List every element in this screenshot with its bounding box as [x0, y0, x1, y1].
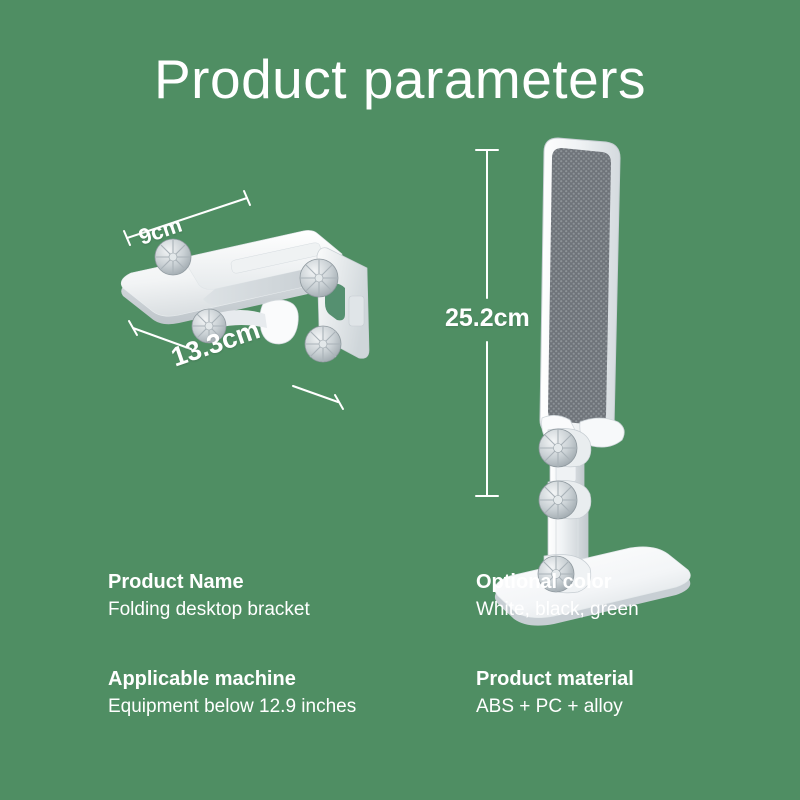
- dimension-label-25-2cm: 25.2cm: [445, 306, 530, 331]
- hinge-knob: [539, 481, 577, 519]
- spec-title: Product Name: [108, 570, 476, 595]
- stand-back-panel: [540, 138, 620, 439]
- spec-value: ABS + PC + alloy: [476, 695, 800, 720]
- spec-product-material: Product material ABS + PC + alloy: [476, 667, 800, 720]
- spec-title: Applicable machine: [108, 667, 476, 692]
- spec-title: Optional color: [476, 570, 800, 595]
- hinge-knob: [155, 239, 191, 275]
- product-parameters-page: Product parameters: [0, 0, 800, 800]
- spec-value: Equipment below 12.9 inches: [108, 695, 476, 720]
- spec-value: White, black, green: [476, 598, 800, 623]
- specifications-grid: Product Name Folding desktop bracket Opt…: [0, 570, 800, 719]
- hinge-knob: [300, 259, 338, 297]
- spec-applicable-machine: Applicable machine Equipment below 12.9 …: [108, 667, 476, 720]
- pole-hinge-knobs: [538, 429, 577, 592]
- spec-optional-color: Optional color White, black, green: [476, 570, 800, 623]
- hinge-knob: [539, 429, 577, 467]
- spec-title: Product material: [476, 667, 800, 692]
- hinge-knob: [305, 326, 341, 362]
- spec-product-name: Product Name Folding desktop bracket: [108, 570, 476, 623]
- page-title: Product parameters: [0, 52, 800, 107]
- spec-value: Folding desktop bracket: [108, 598, 476, 623]
